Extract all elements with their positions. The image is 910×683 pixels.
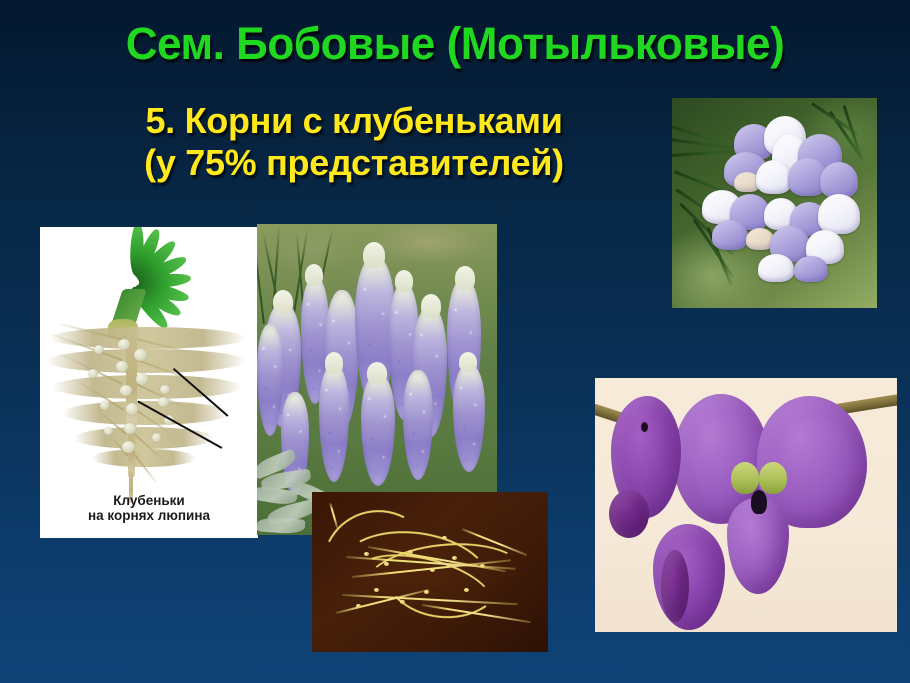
nodule-shape — [104, 427, 113, 435]
spike-tip — [305, 264, 323, 286]
petal-marking — [751, 490, 767, 514]
lupin-spike — [453, 364, 485, 472]
bud-petal — [661, 550, 689, 622]
nodule-dot — [364, 552, 369, 556]
nodule-shape — [118, 339, 130, 350]
root-line — [329, 503, 338, 529]
nodule-dot — [408, 550, 413, 554]
subtitle-line-2: (у 75% представителей) — [42, 142, 666, 184]
green-keel-mark — [759, 462, 787, 494]
nodule-dot — [464, 588, 469, 592]
nodule-dot — [442, 536, 447, 540]
flower-petal — [712, 220, 748, 250]
nodule-dot — [424, 590, 429, 594]
petal-marking — [641, 422, 648, 432]
nodule-shape — [126, 403, 138, 415]
nodule-shape — [124, 423, 136, 434]
nodule-shape — [88, 369, 98, 378]
nodule-shape — [136, 373, 148, 385]
silver-leaf — [257, 516, 305, 534]
slide-canvas: Сем. Бобовые (Мотыльковые) 5. Корни с кл… — [0, 0, 910, 683]
root-nodules-image — [312, 492, 548, 652]
subtitle-block: 5. Корни с клубеньками (у 75% представит… — [42, 100, 666, 184]
nodule-dot — [400, 600, 405, 604]
purple-flower-image — [595, 378, 897, 632]
diagram-caption-line-2: на корнях люпина — [40, 508, 258, 524]
subtitle-line-1: 5. Корни с клубеньками — [42, 100, 666, 142]
nodule-shape — [120, 385, 132, 396]
flower-petal — [756, 160, 792, 194]
lupin-spike — [319, 364, 349, 482]
nodule-dot — [430, 568, 435, 572]
nodule-shape — [152, 433, 161, 442]
pale-violet-flower-image — [672, 98, 877, 308]
page-title: Сем. Бобовые (Мотыльковые) — [9, 18, 901, 70]
bud-petal — [609, 490, 649, 538]
nodule-dot — [356, 604, 361, 608]
flower-petal — [818, 194, 860, 234]
lupin-spike — [361, 374, 395, 486]
diagram-caption: Клубеньки на корнях люпина — [40, 493, 258, 524]
nodule-dot — [452, 556, 457, 560]
nodule-shape — [134, 349, 147, 361]
spike-tip — [395, 270, 413, 292]
nodule-dot — [374, 588, 379, 592]
nodule-shape — [122, 441, 135, 453]
nodule-shape — [94, 345, 104, 354]
spike-tip — [459, 352, 477, 372]
root-diagram-image: Клубеньки на корнях люпина — [40, 227, 258, 538]
needle-leaf — [811, 102, 859, 136]
nodule-dot — [480, 564, 485, 568]
spike-tip — [455, 266, 475, 290]
green-keel-mark — [731, 462, 759, 494]
nodule-shape — [100, 401, 109, 410]
flower-petal — [820, 162, 858, 198]
flower-petal — [758, 254, 794, 282]
lupin-field-image — [257, 224, 497, 535]
spike-tip — [367, 362, 387, 384]
nodule-shape — [160, 385, 170, 394]
spike-tip — [363, 242, 385, 268]
spike-tip — [421, 294, 441, 318]
nodule-shape — [158, 397, 169, 407]
lupin-spike — [403, 370, 433, 480]
nodule-shape — [116, 361, 128, 372]
diagram-caption-line-1: Клубеньки — [40, 493, 258, 509]
spike-tip — [325, 352, 343, 374]
lupin-spike — [257, 324, 283, 436]
flower-petal — [794, 256, 828, 282]
nodule-dot — [384, 562, 389, 566]
spike-tip — [273, 290, 293, 314]
